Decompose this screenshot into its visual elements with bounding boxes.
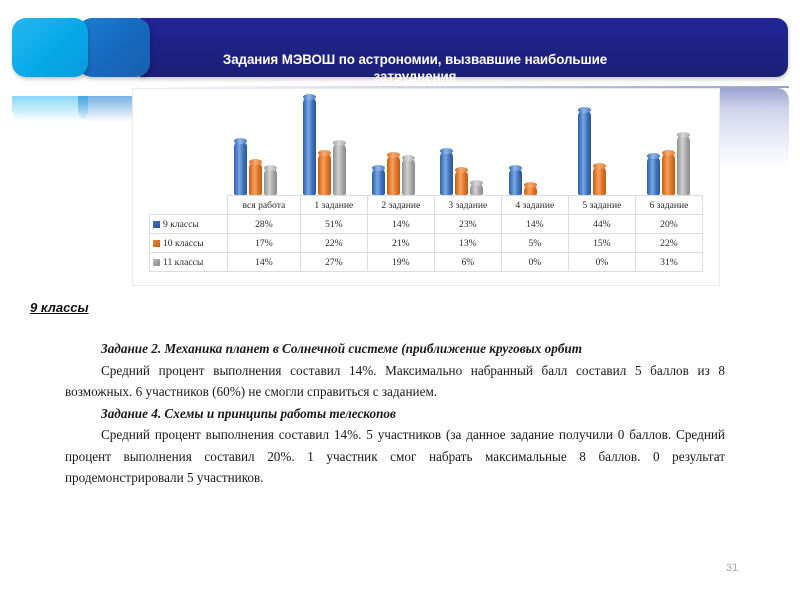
table-cell: 20% <box>635 215 702 234</box>
bar-cap <box>455 167 468 173</box>
chart-bar <box>372 168 385 195</box>
table-cell: 6% <box>434 253 501 272</box>
legend-swatch-icon <box>153 259 160 266</box>
bar-group <box>359 89 428 195</box>
table-cell: 17% <box>228 234 301 253</box>
table-corner-cell <box>150 196 228 215</box>
table-column-header: 2 задание <box>367 196 434 215</box>
table-row-header: 10 классы <box>150 234 228 253</box>
bar-cap <box>647 153 660 159</box>
bar-cap <box>578 107 591 113</box>
chart-bar <box>264 168 277 195</box>
bar-cap <box>333 140 346 146</box>
table-column-header: 4 задание <box>501 196 568 215</box>
header-square-light <box>12 18 88 77</box>
body-text: Задание 2. Механика планет в Солнечной с… <box>65 338 725 489</box>
chart-bar <box>470 183 483 195</box>
task2-text: Средний процент выполнения составил 14%.… <box>65 360 725 403</box>
bar-cap <box>303 94 316 100</box>
chart-bar <box>509 168 522 195</box>
table-cell: 44% <box>568 215 635 234</box>
bar-cap <box>402 155 415 161</box>
bar-cap <box>318 150 331 156</box>
chart-bar <box>303 97 316 195</box>
table-cell: 23% <box>434 215 501 234</box>
table-column-header: 3 задание <box>434 196 501 215</box>
table-row: 11 классы14%27%19%6%0%0%31% <box>150 253 703 272</box>
bar-cap <box>440 148 453 154</box>
chart-panel: вся работа1 задание2 задание3 задание4 з… <box>132 88 720 286</box>
bar-group <box>290 89 359 195</box>
table-cell: 15% <box>568 234 635 253</box>
table-cell: 14% <box>367 215 434 234</box>
chart-bar <box>578 110 591 195</box>
chart-bar <box>455 170 468 195</box>
table-column-header: 1 задание <box>300 196 367 215</box>
chart-bar <box>524 185 537 195</box>
chart-bar <box>677 135 690 195</box>
bar-cap <box>264 165 277 171</box>
table-header-row: вся работа1 задание2 задание3 задание4 з… <box>150 196 703 215</box>
panel-shadow <box>717 88 789 170</box>
chart-bar <box>662 153 675 195</box>
bar-cap <box>234 138 247 144</box>
bar-cap <box>509 165 522 171</box>
chart-bar <box>234 141 247 195</box>
table-cell: 14% <box>228 253 301 272</box>
bar-cap <box>387 152 400 158</box>
table-cell: 13% <box>434 234 501 253</box>
chart-bar <box>318 153 331 195</box>
chart-bar <box>249 162 262 195</box>
table-cell: 19% <box>367 253 434 272</box>
section-title: 9 классы <box>30 300 89 315</box>
table-cell: 22% <box>300 234 367 253</box>
chart-bar <box>333 143 346 195</box>
bar-cap <box>662 150 675 156</box>
table-cell: 5% <box>501 234 568 253</box>
chart-bar <box>440 151 453 195</box>
task4-heading: Задание 4. Схемы и принципы работы телес… <box>65 403 725 425</box>
legend-swatch-icon <box>153 240 160 247</box>
chart-bar <box>402 158 415 195</box>
table-cell: 31% <box>635 253 702 272</box>
slide-header: Задания МЭВОШ по астрономии, вызвавшие н… <box>0 17 800 79</box>
page-title: Задания МЭВОШ по астрономии, вызвавшие н… <box>180 51 650 85</box>
table-cell: 22% <box>635 234 702 253</box>
task2-heading: Задание 2. Механика планет в Солнечной с… <box>65 338 725 360</box>
chart-data-table: вся работа1 задание2 задание3 задание4 з… <box>149 195 703 272</box>
series-label: 11 классы <box>163 257 203 268</box>
table-cell: 28% <box>228 215 301 234</box>
bar-cap <box>593 163 606 169</box>
series-label: 10 классы <box>163 238 204 249</box>
bar-group <box>496 89 565 195</box>
header-square-mid <box>78 18 150 77</box>
bar-cap <box>372 165 385 171</box>
table-cell: 0% <box>568 253 635 272</box>
chart-bar <box>593 166 606 195</box>
table-row: 9 классы28%51%14%23%14%44%20% <box>150 215 703 234</box>
bar-group <box>634 89 703 195</box>
table-body: 9 классы28%51%14%23%14%44%20%10 классы17… <box>150 215 703 272</box>
bar-group <box>221 89 290 195</box>
page-number: 31 <box>726 562 738 574</box>
table-cell: 27% <box>300 253 367 272</box>
bar-group <box>428 89 497 195</box>
table-row: 10 классы17%22%21%13%5%15%22% <box>150 234 703 253</box>
chart-plot-area <box>133 89 719 195</box>
bar-cap <box>470 180 483 186</box>
table-column-header: 5 задание <box>568 196 635 215</box>
bar-cap <box>677 132 690 138</box>
table-cell: 51% <box>300 215 367 234</box>
table-column-header: вся работа <box>228 196 301 215</box>
task4-text: Средний процент выполнения составил 14%.… <box>65 424 725 489</box>
table-row-header: 9 классы <box>150 215 228 234</box>
chart-bar <box>387 155 400 195</box>
bar-cap <box>249 159 262 165</box>
slide: Задания МЭВОШ по астрономии, вызвавшие н… <box>0 0 800 600</box>
table-cell: 21% <box>367 234 434 253</box>
legend-swatch-icon <box>153 221 160 228</box>
bar-cap <box>524 182 537 188</box>
table-row-header: 11 классы <box>150 253 228 272</box>
series-label: 9 классы <box>163 219 199 230</box>
table-cell: 0% <box>501 253 568 272</box>
bar-group <box>565 89 634 195</box>
chart-bar <box>647 156 660 195</box>
table-column-header: 6 задание <box>635 196 702 215</box>
table-cell: 14% <box>501 215 568 234</box>
